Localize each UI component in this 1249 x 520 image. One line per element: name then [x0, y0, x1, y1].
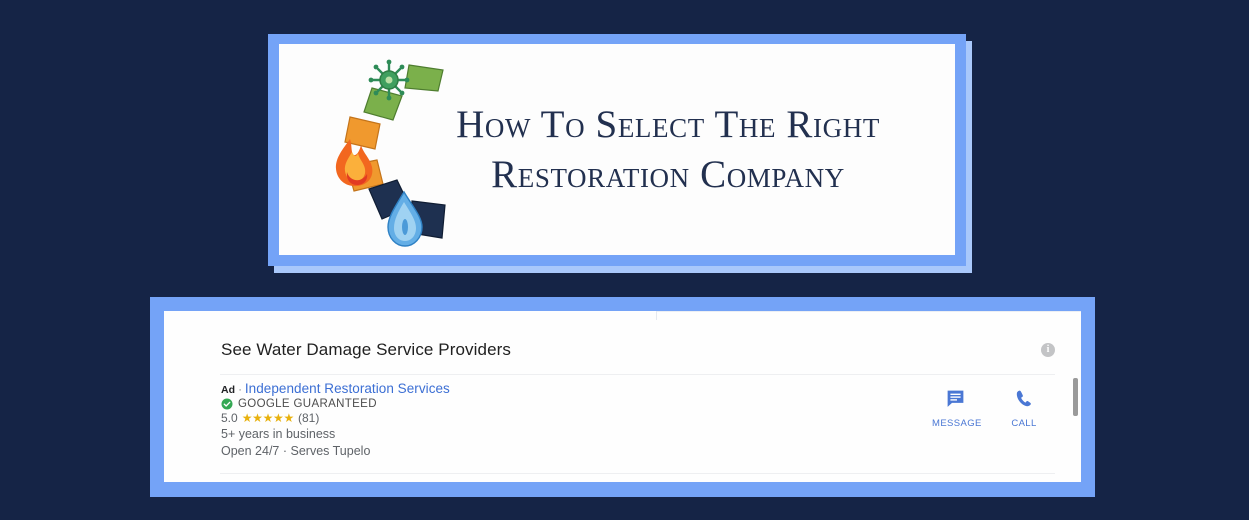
- local-services-title: See Water Damage Service Providers: [221, 340, 1041, 360]
- hero-banner: How To Select The Right Restoration Comp…: [268, 34, 966, 266]
- header-divider: [220, 374, 1055, 375]
- rating-row: 5.0 ★★★★★ (81): [221, 411, 932, 425]
- serp-white-card: See Water Damage Service Providers i Ad …: [164, 311, 1081, 482]
- local-services-header: See Water Damage Service Providers i: [164, 327, 1081, 373]
- ad-action-buttons: MESSAGE CALL: [932, 381, 1051, 460]
- card-top-border: [656, 311, 1081, 312]
- hero-white-card: How To Select The Right Restoration Comp…: [279, 44, 955, 255]
- google-guaranteed-badge: GOOGLE GUARANTEED: [221, 398, 932, 410]
- hero-blue-frame: How To Select The Right Restoration Comp…: [268, 34, 966, 266]
- message-icon: [932, 387, 978, 409]
- rating-value: 5.0: [221, 411, 238, 425]
- advertiser-link[interactable]: Independent Restoration Services: [245, 381, 450, 396]
- page-title: How To Select The Right Restoration Comp…: [399, 100, 937, 200]
- ad-separator-dot: ·: [238, 384, 242, 396]
- call-button-label: CALL: [1001, 418, 1047, 429]
- vertical-scrollbar-thumb[interactable]: [1073, 378, 1078, 416]
- message-button-label: MESSAGE: [932, 418, 978, 429]
- hours-and-service-area: Open 24/7 · Serves Tupelo: [221, 443, 932, 460]
- google-guaranteed-label: GOOGLE GUARANTEED: [238, 398, 377, 410]
- call-button[interactable]: CALL: [1001, 387, 1047, 460]
- ad-label: Ad: [221, 384, 235, 396]
- card-top-border-tick: [656, 311, 657, 320]
- mold-green-upper-segment: [405, 65, 443, 91]
- message-button[interactable]: MESSAGE: [932, 387, 978, 460]
- phone-call-icon: [1001, 387, 1047, 409]
- serp-blue-frame: See Water Damage Service Providers i Ad …: [150, 297, 1095, 497]
- search-results-panel: See Water Damage Service Providers i Ad …: [150, 297, 1095, 497]
- info-icon[interactable]: i: [1041, 343, 1055, 357]
- review-count: (81): [298, 411, 319, 425]
- ad-details: Ad · Independent Restoration Services GO…: [221, 381, 932, 460]
- ad-headline[interactable]: Ad · Independent Restoration Services: [221, 381, 932, 396]
- rating-stars: ★★★★★: [242, 411, 294, 425]
- mold-green-lower-segment: [364, 88, 402, 120]
- years-in-business: 5+ years in business: [221, 426, 932, 443]
- google-guaranteed-check-icon: [221, 398, 233, 410]
- local-service-ad-row[interactable]: Ad · Independent Restoration Services GO…: [164, 381, 1081, 460]
- footer-divider: [220, 473, 1055, 474]
